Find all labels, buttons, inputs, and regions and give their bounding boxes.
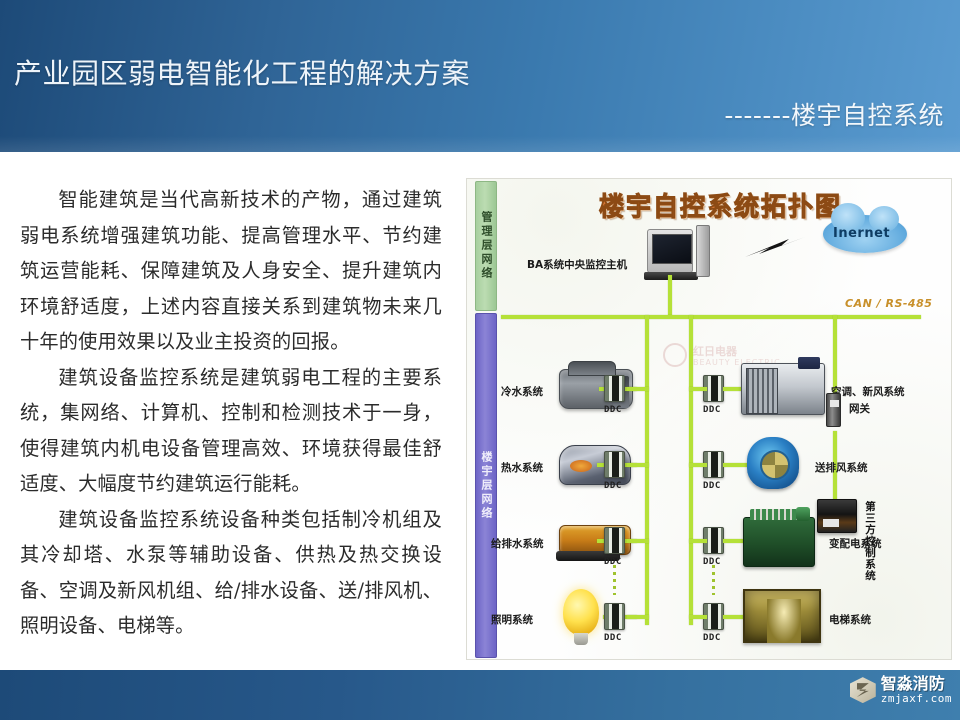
- link-ddc8-elevator: [723, 615, 745, 619]
- internet-cloud-label: Inernet: [833, 226, 890, 241]
- brand-name: 智淼消防: [881, 676, 952, 693]
- fan-icon: [747, 437, 799, 489]
- layer-bar-management: 管理层网络: [475, 181, 497, 311]
- link-ddc7-bus: [627, 615, 649, 619]
- paragraph-2: 建筑设备监控系统是建筑弱电工程的主要系统，集网络、计算机、控制和检测技术于一身，…: [20, 360, 442, 502]
- brand-mark-icon: [850, 677, 876, 703]
- paragraph-1: 智能建筑是当代高新技术的产物，通过建筑弱电系统增强建筑功能、提高管理水平、节约建…: [20, 182, 442, 360]
- layer-bar-building: 楼宇层网络: [475, 313, 497, 658]
- ddc-label-1: DDC: [604, 405, 622, 415]
- system-label-hot-water: 热水系统: [501, 460, 543, 475]
- ddc-label-3: DDC: [604, 481, 622, 491]
- wireless-link-icon: [745, 237, 805, 259]
- third-party-controller-icon: [817, 499, 857, 533]
- gateway-label: 网关: [849, 401, 870, 416]
- slide-header: 产业园区弱电智能化工程的解决方案 -------楼宇自控系统: [0, 0, 960, 152]
- ddc-module-3: [604, 451, 625, 478]
- ddc-module-5: [604, 527, 625, 554]
- trunk-line-host: [668, 275, 672, 317]
- system-label-lighting: 照明系统: [491, 612, 533, 627]
- paragraph-3: 建筑设备监控系统设备种类包括制冷机组及其冷却塔、水泵等辅助设备、供热及热交换设备…: [20, 502, 442, 644]
- slide-root: 产业园区弱电智能化工程的解决方案 -------楼宇自控系统 智能建筑是当代高新…: [0, 0, 960, 720]
- page-subtitle: -------楼宇自控系统: [724, 96, 944, 132]
- link-ddc1-bus: [627, 387, 649, 391]
- trunk-line-horizontal: [501, 315, 921, 319]
- link-ddc5-bus: [627, 539, 649, 543]
- link-ddc6-trafo: [723, 539, 745, 543]
- link-ddc3-bus: [627, 463, 649, 467]
- ddc-label-2: DDC: [703, 405, 721, 415]
- system-label-plumbing: 给排水系统: [491, 536, 544, 551]
- ddc-label-7: DDC: [604, 633, 622, 643]
- gateway-icon: [826, 393, 841, 427]
- gateway-feed-line-upper: [833, 315, 837, 393]
- slide-footer: [0, 670, 960, 720]
- ddc-label-8: DDC: [703, 633, 721, 643]
- bulb-icon: [563, 589, 599, 635]
- transformer-icon: [743, 517, 815, 567]
- diagram-title: 楼宇自控系统拓扑图: [599, 186, 842, 224]
- system-label-elevator: 电梯系统: [829, 612, 871, 627]
- link-bus-ddc4: [689, 463, 707, 467]
- system-label-ventilation: 送排风系统: [815, 460, 868, 475]
- elevator-icon: [743, 589, 821, 643]
- link-ddc4-fan: [723, 463, 749, 467]
- ahu-icon: [741, 363, 825, 415]
- ddc-label-4: DDC: [703, 481, 721, 491]
- central-host-monitor-icon: [647, 229, 693, 273]
- link-bus-ddc6: [689, 539, 707, 543]
- dashed-link-right: [712, 565, 715, 595]
- brand-logo: 智淼消防 zmjaxf.com: [850, 676, 952, 704]
- topology-diagram: 管理层网络 楼宇层网络 楼宇自控系统拓扑图 BA系统中央监控主机 Inernet…: [466, 178, 952, 660]
- third-party-label: 第三方控制系统: [863, 501, 878, 582]
- system-label-chilled-water: 冷水系统: [501, 384, 543, 399]
- brand-url: zmjaxf.com: [881, 693, 952, 705]
- ddc-module-7: [604, 603, 625, 630]
- bus-line-left: [645, 315, 649, 625]
- link-bus-ddc8: [689, 615, 707, 619]
- link-bus-ddc2: [689, 387, 707, 391]
- slide-body: 智能建筑是当代高新技术的产物，通过建筑弱电系统增强建筑功能、提高管理水平、节约建…: [0, 152, 960, 670]
- layer-label-building: 楼宇层网络: [478, 451, 494, 521]
- brand-texts: 智淼消防 zmjaxf.com: [881, 676, 952, 704]
- system-label-hvac: 空调、新风系统: [831, 384, 905, 399]
- central-host-tower-icon: [696, 225, 710, 277]
- layer-label-management: 管理层网络: [478, 211, 494, 281]
- page-title: 产业园区弱电智能化工程的解决方案: [14, 52, 470, 92]
- dashed-link-left: [613, 565, 616, 595]
- bus-line-right: [689, 315, 693, 625]
- ddc-module-1: [604, 375, 625, 402]
- text-column: 智能建筑是当代高新技术的产物，通过建筑弱电系统增强建筑功能、提高管理水平、节约建…: [0, 152, 464, 670]
- bus-protocol-label: CAN / RS-485: [845, 297, 932, 310]
- host-label: BA系统中央监控主机: [527, 257, 627, 272]
